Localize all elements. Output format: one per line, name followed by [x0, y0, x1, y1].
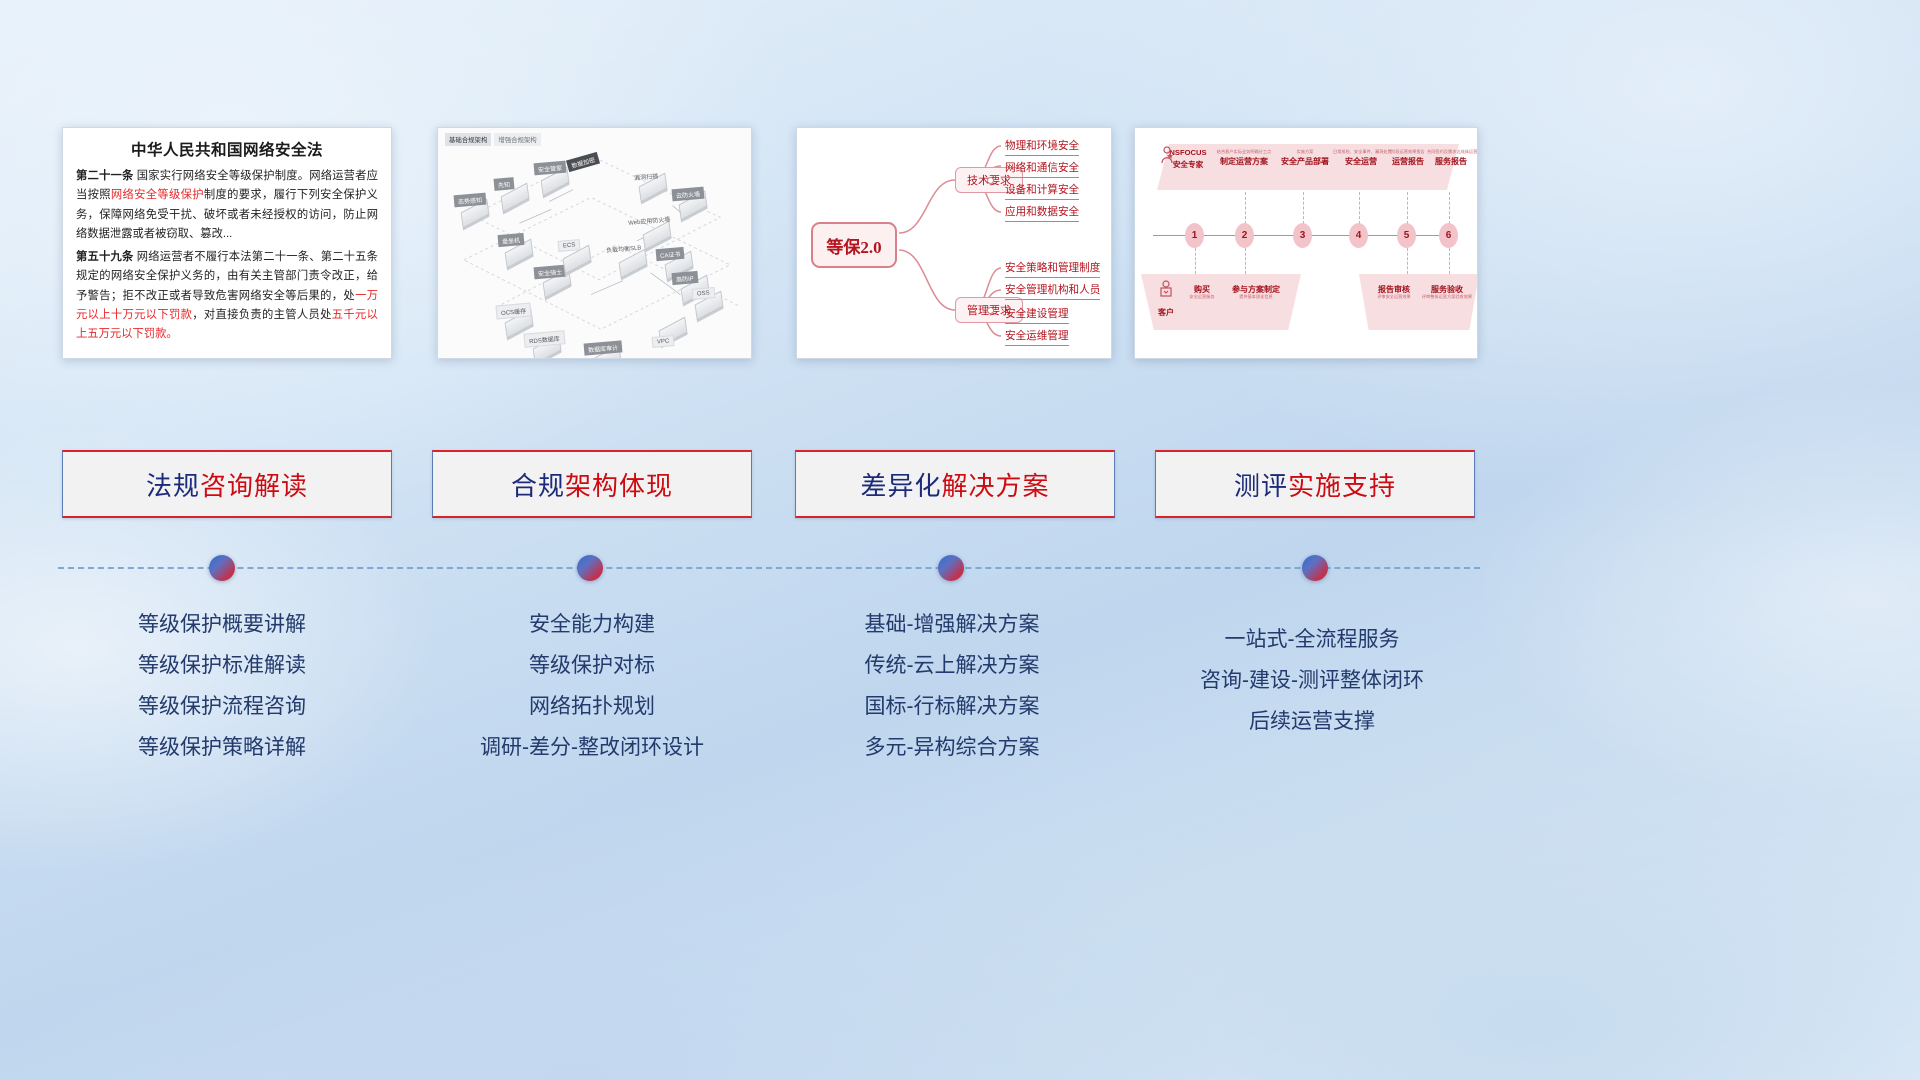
nsfocus-num-3: 3	[1293, 223, 1312, 248]
timeline-dot-1[interactable]	[209, 555, 235, 581]
label-2-red: 架构体现	[565, 471, 673, 501]
node-label-anti-ddos: 高防IP	[672, 271, 699, 285]
nsfocus-step-2-main: 安全产品部署	[1277, 156, 1333, 167]
timeline-dot-3[interactable]	[938, 555, 964, 581]
nsfocus-bottom-step-3: 报告审核 评审安全运营效果	[1367, 282, 1421, 299]
list-item: 一站式-全流程服务	[1142, 620, 1482, 661]
mindmap-collapse-dot-technical[interactable]	[987, 177, 994, 184]
nsfocus-step-1: 结合客户实际业务明确分工点 制定运营方案	[1213, 150, 1275, 167]
list-item: 咨询-建设-测评整体闭环	[1142, 661, 1482, 702]
label-text-2: 合规架构体现	[511, 466, 673, 503]
label-3-red: 解决方案	[942, 471, 1050, 501]
nsfocus-step-4-sub: 阶段运营效果报告	[1385, 150, 1431, 154]
nsfocus-num-1: 1	[1185, 223, 1204, 248]
node-label-ca-cert: CA证书	[656, 247, 685, 261]
nsfocus-step-3-sub: 日常巡检、安全事件、漏洞处置	[1333, 150, 1389, 154]
article-59-mid: ，对直接负责的主管人员处	[192, 309, 332, 321]
nsfocus-step-4-main: 运营报告	[1385, 156, 1431, 167]
nsfocus-step-3: 日常巡检、安全事件、漏洞处置 安全运营	[1333, 150, 1389, 167]
list-item: 网络拓扑规划	[422, 687, 762, 728]
nsfocus-step-2-sub: 实施方案	[1277, 150, 1333, 154]
nsfocus-bottom-step-2: 参与方案制定 提供基本固化信息	[1223, 282, 1289, 299]
tab-basic-framework[interactable]: 基础合规架构	[445, 133, 491, 146]
leader-line-b1	[1195, 248, 1196, 274]
label-text-3: 差异化解决方案	[860, 466, 1049, 503]
nsfocus-step-5: 合同签约及需求达成体运营效果 服务报告	[1427, 150, 1475, 167]
nsfocus-bottom-step-1-sub: 安全运营服务	[1181, 295, 1223, 299]
mindmap-leaf-ops-mgmt: 安全运维管理	[1005, 328, 1069, 346]
nsfocus-step-3-main: 安全运营	[1333, 156, 1389, 167]
nsfocus-num-2: 2	[1235, 223, 1254, 248]
nsfocus-bottom-step-2-sub: 提供基本固化信息	[1223, 295, 1289, 299]
list-item: 多元-异构综合方案	[782, 728, 1122, 769]
leader-line-b4	[1449, 248, 1450, 274]
mindmap-leaf-policy-system: 安全策略和管理制度	[1005, 260, 1100, 278]
timeline-dot-4[interactable]	[1302, 555, 1328, 581]
nsfocus-bottom-step-1: 购买 安全运营服务	[1181, 282, 1223, 299]
nsfocus-step-2: 实施方案 安全产品部署	[1277, 150, 1333, 167]
article-21-label: 第二十一条	[76, 170, 133, 182]
nsfocus-step-5-main: 服务报告	[1427, 156, 1475, 167]
list-item: 基础-增强解决方案	[782, 605, 1122, 646]
label-4-blue: 测评	[1234, 471, 1288, 501]
label-1-red: 咨询解读	[200, 471, 308, 501]
mindmap-leaf-device-compute: 设备和计算安全	[1005, 182, 1079, 200]
timeline-dashed-line	[58, 567, 1480, 569]
label-box-regulation-consulting[interactable]: 法规咨询解读	[62, 450, 392, 518]
architecture-tabs: 基础合规架构 增强合规架构	[445, 133, 541, 146]
nsfocus-expert-block: NSFOCUS 安全专家	[1159, 146, 1217, 170]
leader-line-3	[1303, 192, 1304, 224]
leader-line-5	[1407, 192, 1408, 224]
nsfocus-timeline-card[interactable]: NSFOCUS 安全专家 结合客户实际业务明确分工点 制定运营方案 实施方案 安…	[1134, 127, 1478, 359]
law-article-21: 第二十一条 国家实行网络安全等级保护制度。网络运营者应当按照网络安全等级保护制度…	[76, 167, 378, 245]
label-text-1: 法规咨询解读	[146, 466, 308, 503]
nsfocus-step-4: 阶段运营效果报告 运营报告	[1385, 150, 1431, 167]
nsfocus-num-6: 6	[1439, 223, 1458, 248]
nsfocus-num-5: 5	[1397, 223, 1416, 248]
mindmap-leaf-construction-mgmt: 安全建设管理	[1005, 306, 1069, 324]
mindmap-leaf-app-data: 应用和数据安全	[1005, 204, 1079, 222]
leader-line-b2	[1245, 248, 1246, 274]
customer-person-icon	[1159, 280, 1173, 300]
mindmap-leaf-physical-env: 物理和环境安全	[1005, 138, 1079, 156]
law-article-59: 第五十九条 网络运营者不履行本法第二十一条、第二十五条规定的网络安全保护义务的，…	[76, 248, 378, 345]
list-item: 等级保护概要讲解	[52, 605, 392, 646]
node-label-oss: OSS	[692, 287, 716, 300]
timeline-dot-2[interactable]	[577, 555, 603, 581]
mindmap-leaf-org-personnel: 安全管理机构和人员	[1005, 282, 1100, 300]
list-item: 传统-云上解决方案	[782, 646, 1122, 687]
node-label-vpc: VPC	[652, 335, 675, 348]
service-column-1: 等级保护概要讲解 等级保护标准解读 等级保护流程咨询 等级保护策略详解	[52, 605, 392, 769]
node-label-bastion-host: 堡垒机	[498, 233, 525, 247]
label-2-blue: 合规	[511, 471, 565, 501]
nsfocus-bottom-step-4-sub: 评审整体运营方案验收效果	[1419, 295, 1475, 299]
list-item: 国标-行标解决方案	[782, 687, 1122, 728]
leader-line-6	[1449, 192, 1450, 224]
leader-line-4	[1359, 192, 1360, 224]
architecture-canvas: 基础合规架构 增强合规架构	[438, 128, 751, 358]
mindmap-card[interactable]: 等保2.0 技术要求 管理要求 物理和环境安全 网络和通信安全 设备和计算安全 …	[796, 127, 1112, 359]
list-item: 等级保护对标	[422, 646, 762, 687]
nsfocus-num-4: 4	[1349, 223, 1368, 248]
law-title: 中华人民共和国网络安全法	[76, 138, 378, 160]
mindmap-canvas: 等保2.0 技术要求 管理要求 物理和环境安全 网络和通信安全 设备和计算安全 …	[797, 128, 1111, 358]
architecture-nodes: 数据加密 态势感知 先知 安全管家 堡垒机 安全骑士 OCS缓存 RDS数据库	[442, 146, 747, 354]
service-column-4: 一站式-全流程服务 咨询-建设-测评整体闭环 后续运营支撑	[1142, 620, 1482, 743]
leader-line-2	[1245, 192, 1246, 224]
nsfocus-bottom-step-4: 服务验收 评审整体运营方案验收效果	[1419, 282, 1475, 299]
mindmap-root: 等保2.0	[811, 222, 897, 268]
article-59-label: 第五十九条	[76, 251, 133, 263]
label-1-blue: 法规	[146, 471, 200, 501]
list-item: 等级保护流程咨询	[52, 687, 392, 728]
law-text-card[interactable]: 中华人民共和国网络安全法 第二十一条 国家实行网络安全等级保护制度。网络运营者应…	[62, 127, 392, 359]
label-box-compliance-architecture[interactable]: 合规架构体现	[432, 450, 752, 518]
label-box-differentiated-solution[interactable]: 差异化解决方案	[795, 450, 1115, 518]
service-column-3: 基础-增强解决方案 传统-云上解决方案 国标-行标解决方案 多元-异构综合方案	[782, 605, 1122, 769]
tab-enhanced-framework[interactable]: 增强合规架构	[494, 133, 540, 146]
leader-line-b3	[1407, 248, 1408, 274]
label-3-blue: 差异化	[860, 471, 941, 501]
nsfocus-step-5-sub: 合同签约及需求达成体运营效果	[1427, 150, 1475, 154]
architecture-guides	[442, 146, 747, 354]
nsfocus-customer-label: 客户	[1149, 307, 1183, 318]
label-4-red: 实施支持	[1288, 471, 1396, 501]
mindmap-collapse-dot-management[interactable]	[987, 307, 994, 314]
list-item: 安全能力构建	[422, 605, 762, 646]
nsfocus-canvas: NSFOCUS 安全专家 结合客户实际业务明确分工点 制定运营方案 实施方案 安…	[1135, 128, 1477, 358]
list-item: 等级保护策略详解	[52, 728, 392, 769]
label-box-assessment-support[interactable]: 测评实施支持	[1155, 450, 1475, 518]
nsfocus-bottom-step-3-sub: 评审安全运营效果	[1367, 295, 1421, 299]
expert-person-icon	[1159, 146, 1175, 169]
node-label-ecs: ECS	[558, 239, 581, 252]
node-label-foresight: 先知	[494, 177, 515, 191]
list-item: 等级保护标准解读	[52, 646, 392, 687]
mindmap-leaf-network-comm: 网络和通信安全	[1005, 160, 1079, 178]
label-text-4: 测评实施支持	[1234, 466, 1396, 503]
list-item: 调研-差分-整改闭环设计	[422, 728, 762, 769]
nsfocus-customer-block: 客户	[1149, 280, 1183, 318]
expert-person-glyph	[1159, 146, 1175, 164]
law-body: 中华人民共和国网络安全法 第二十一条 国家实行网络安全等级保护制度。网络运营者应…	[63, 128, 391, 345]
article-21-highlight: 网络安全等级保护	[111, 189, 204, 201]
nsfocus-step-1-sub: 结合客户实际业务明确分工点	[1213, 150, 1275, 154]
nsfocus-step-1-main: 制定运营方案	[1213, 156, 1275, 167]
architecture-diagram-card[interactable]: 基础合规架构 增强合规架构	[437, 127, 752, 359]
image-card-row: 中华人民共和国网络安全法 第二十一条 国家实行网络安全等级保护制度。网络运营者应…	[0, 0, 1920, 380]
list-item: 后续运营支撑	[1142, 702, 1482, 743]
service-column-2: 安全能力构建 等级保护对标 网络拓扑规划 调研-差分-整改闭环设计	[422, 605, 762, 769]
